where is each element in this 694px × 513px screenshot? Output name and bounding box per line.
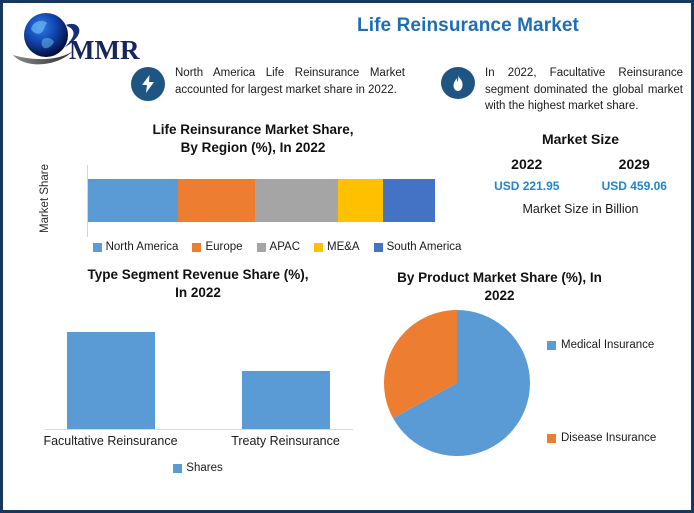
- type-segment-chart: Type Segment Revenue Share (%), In 2022 …: [23, 266, 373, 481]
- type-chart-title: Type Segment Revenue Share (%), In 2022: [23, 266, 373, 302]
- pie-graphic: [383, 309, 531, 457]
- region-segment-apac: [255, 179, 338, 222]
- callout-facultative: In 2022, Facultative Reinsurance segment…: [441, 65, 691, 115]
- logo-wordmark: MMR: [69, 35, 140, 65]
- region-legend-swatch: [257, 243, 266, 252]
- region-legend-label: ME&A: [327, 241, 360, 253]
- region-segment-north-america: [88, 179, 178, 222]
- flame-drop-icon: [441, 67, 475, 99]
- pie-legend-disease: Disease Insurance: [547, 432, 656, 444]
- market-size-block: Market Size 2022 2029 USD 221.95 USD 459…: [473, 131, 688, 216]
- market-size-value-2029: USD 459.06: [602, 179, 667, 193]
- region-segment-south-america: [383, 179, 435, 222]
- lightning-bolt-glyph: [140, 75, 156, 93]
- pie-chart-title-line2: 2022: [377, 287, 622, 305]
- region-legend-label: North America: [106, 241, 179, 253]
- region-legend: North AmericaEuropeAPACME&ASouth America: [77, 241, 477, 253]
- market-size-year-2029: 2029: [619, 156, 650, 172]
- type-baseline-axis: [45, 429, 353, 430]
- type-category-treaty: Treaty Reinsurance: [198, 434, 373, 448]
- logo-svg: MMR: [11, 11, 161, 73]
- market-size-year-2022: 2022: [511, 156, 542, 172]
- region-legend-item: South America: [374, 241, 462, 253]
- region-plot-area: Market Share: [43, 165, 463, 237]
- region-legend-label: Europe: [205, 241, 242, 253]
- type-chart-title-line1: Type Segment Revenue Share (%),: [23, 266, 373, 284]
- region-segment-me-a: [338, 179, 383, 222]
- page-title: Life Reinsurance Market: [253, 15, 683, 37]
- type-category-facultative: Facultative Reinsurance: [23, 434, 198, 448]
- market-size-years: 2022 2029: [473, 156, 688, 172]
- pie-legend-swatch: [547, 341, 556, 350]
- region-y-axis-label: Market Share: [39, 169, 59, 233]
- flame-drop-glyph: [451, 74, 465, 92]
- lightning-bolt-icon: [131, 67, 165, 101]
- pie-chart-title-line1: By Product Market Share (%), In: [377, 269, 622, 287]
- region-legend-swatch: [192, 243, 201, 252]
- region-legend-item: Europe: [192, 241, 242, 253]
- type-legend-item: Shares: [173, 462, 222, 474]
- region-legend-label: APAC: [270, 241, 300, 253]
- mmr-globe-logo: MMR: [11, 11, 161, 73]
- pie-legend-medical: Medical Insurance: [547, 339, 654, 351]
- region-legend-item: APAC: [257, 241, 300, 253]
- region-stacked-bar: [88, 179, 435, 222]
- region-legend-swatch: [374, 243, 383, 252]
- region-chart-title: Life Reinsurance Market Share, By Region…: [43, 121, 463, 157]
- region-segment-europe: [178, 179, 254, 222]
- type-legend-label: Shares: [186, 462, 222, 474]
- region-chart-title-line2: By Region (%), In 2022: [43, 139, 463, 157]
- globe-shape: [24, 13, 68, 57]
- type-bar-facultative-reinsurance: [67, 332, 155, 429]
- pie-legend-label: Disease Insurance: [561, 432, 656, 444]
- region-chart-title-line1: Life Reinsurance Market Share,: [43, 121, 463, 139]
- type-legend: Shares: [23, 462, 373, 474]
- region-legend-swatch: [93, 243, 102, 252]
- callout-text: North America Life Reinsurance Market ac…: [175, 65, 405, 98]
- market-size-values: USD 221.95 USD 459.06: [473, 179, 688, 193]
- market-size-title: Market Size: [473, 131, 688, 147]
- callout-north-america: North America Life Reinsurance Market ac…: [131, 65, 416, 101]
- region-legend-label: South America: [387, 241, 462, 253]
- type-legend-swatch: [173, 464, 182, 473]
- type-plot-area: [23, 318, 373, 430]
- type-chart-title-line2: In 2022: [23, 284, 373, 302]
- infographic-canvas: MMR Life Reinsurance Market North Americ…: [0, 0, 694, 513]
- market-size-caption: Market Size in Billion: [473, 202, 688, 216]
- pie-legend-label: Medical Insurance: [561, 339, 654, 351]
- product-share-chart: By Product Market Share (%), In 2022 Med…: [365, 269, 690, 474]
- pie-chart-title: By Product Market Share (%), In 2022: [377, 269, 622, 305]
- market-size-value-2022: USD 221.95: [494, 179, 559, 193]
- region-legend-item: ME&A: [314, 241, 360, 253]
- region-legend-item: North America: [93, 241, 179, 253]
- pie-legend-swatch: [547, 434, 556, 443]
- pie-svg: [383, 309, 531, 457]
- type-category-labels: Facultative Reinsurance Treaty Reinsuran…: [23, 434, 373, 448]
- region-share-chart: Life Reinsurance Market Share, By Region…: [43, 121, 463, 263]
- region-legend-swatch: [314, 243, 323, 252]
- type-bar-treaty-reinsurance: [242, 371, 330, 429]
- callout-text: In 2022, Facultative Reinsurance segment…: [485, 65, 683, 115]
